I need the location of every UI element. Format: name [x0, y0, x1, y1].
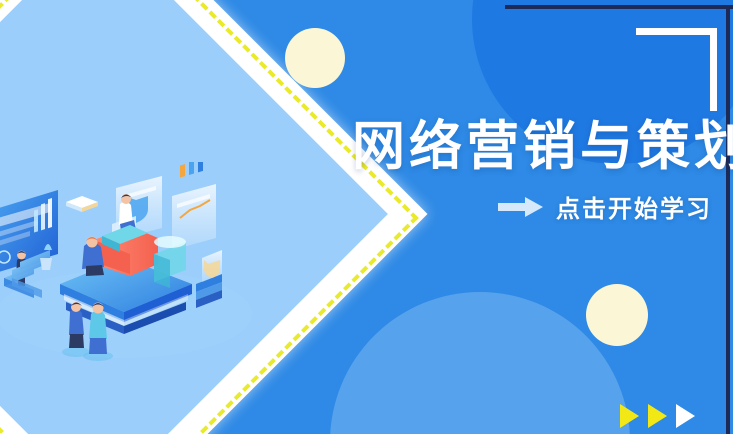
corner-bracket-icon — [636, 28, 717, 111]
bar-chart-card — [172, 162, 216, 250]
page-title: 网络营销与策划 — [352, 118, 716, 175]
circle-decor-bottom-icon — [586, 284, 648, 346]
cta-row[interactable]: 点击开始学习 — [352, 189, 716, 224]
navy-line-right — [726, 5, 730, 434]
course-banner[interactable]: 网络营销与策划 点击开始学习 — [0, 0, 733, 434]
desk-with-person — [82, 225, 158, 276]
circle-decor-top-icon — [285, 28, 345, 88]
play-arrows-group — [620, 404, 695, 428]
open-book — [66, 196, 98, 212]
cta-label[interactable]: 点击开始学习 — [556, 189, 712, 224]
play-triangle-icon-3 — [676, 404, 695, 428]
isometric-business-analytics-illustration — [0, 162, 258, 362]
arrow-right-icon — [498, 196, 544, 218]
play-triangle-icon-2 — [648, 404, 667, 428]
play-triangle-icon-1 — [620, 404, 639, 428]
navy-line-top — [505, 5, 733, 9]
banner-text-block: 网络营销与策划 点击开始学习 — [352, 118, 716, 224]
